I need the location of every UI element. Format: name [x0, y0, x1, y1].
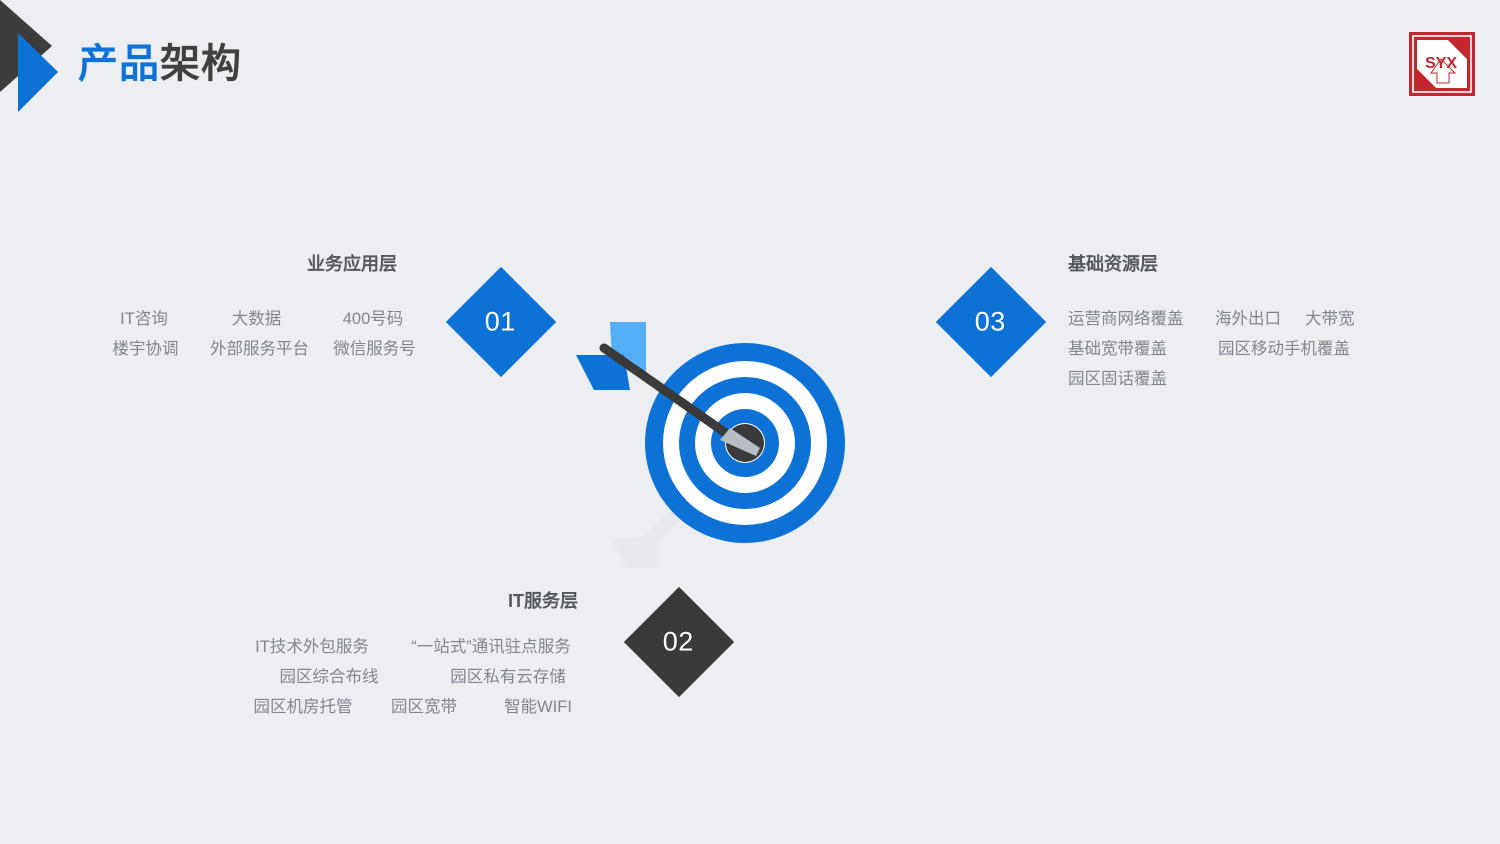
corner-arrow-dark — [0, 0, 52, 92]
layer-item: 楼宇协调 — [91, 334, 201, 364]
layer-item: 园区固话覆盖 — [1068, 364, 1167, 394]
layer-item: 园区综合布线 — [238, 662, 420, 692]
layer-badge-01[interactable]: 01 — [446, 267, 556, 377]
layer-items-business-application: IT咨询大数据400号码 楼宇协调外部服务平台微信服务号 — [88, 304, 433, 364]
layer-item: 基础宽带覆盖 — [1068, 334, 1218, 364]
layer-item: 运营商网络覆盖 — [1068, 304, 1215, 334]
layer-item: 400号码 — [314, 304, 432, 334]
logo-text: SYX — [1425, 55, 1457, 72]
layer-badge-number: 01 — [485, 308, 516, 335]
layer-item: 园区机房托管 — [237, 692, 369, 722]
layer-badge-03[interactable]: 03 — [936, 267, 1046, 377]
layer-title-infrastructure-resource: 基础资源层 — [1068, 255, 1158, 273]
layer-badge-number: 02 — [663, 628, 694, 655]
layer-badge-02[interactable]: 02 — [624, 587, 734, 697]
layer-item: 大带宽 — [1305, 304, 1375, 334]
corner-arrow-decoration — [0, 0, 60, 115]
layer-item: “一站式”通讯驻点服务 — [386, 632, 596, 662]
layer-item: 海外出口 — [1215, 304, 1305, 334]
layer-items-infrastructure-resource: 运营商网络覆盖海外出口大带宽 基础宽带覆盖园区移动手机覆盖 园区固话覆盖 — [1068, 304, 1375, 394]
layer-item: 园区私有云存储 — [420, 662, 596, 692]
layer-items-it-service: IT技术外包服务“一站式”通讯驻点服务 园区综合布线园区私有云存储 园区机房托管… — [236, 632, 598, 722]
layer-item: IT技术外包服务 — [238, 632, 386, 662]
layer-title-business-application: 业务应用层 — [307, 255, 397, 273]
layer-item: 园区移动手机覆盖 — [1218, 334, 1358, 364]
layer-item: 智能WIFI — [479, 692, 597, 722]
page-title-accent: 产品 — [78, 42, 160, 86]
layer-item: 外部服务平台 — [201, 334, 319, 364]
layer-item: 微信服务号 — [319, 334, 431, 364]
corner-arrow-blue — [18, 33, 58, 112]
bullseye-target-icon — [560, 300, 890, 600]
layer-item: IT咨询 — [89, 304, 199, 334]
page-title: 产品架构 — [78, 44, 242, 84]
syx-logo: SYX — [1408, 31, 1476, 97]
page-title-dark: 架构 — [160, 42, 242, 86]
layer-item: 大数据 — [199, 304, 314, 334]
layer-item: 园区宽带 — [369, 692, 479, 722]
layer-badge-number: 03 — [975, 308, 1006, 335]
